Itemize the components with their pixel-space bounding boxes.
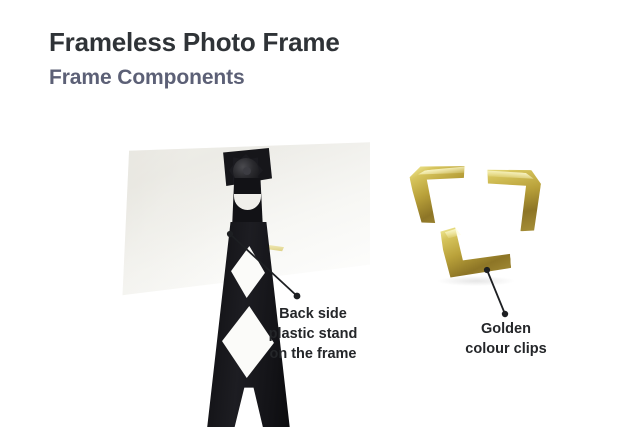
- callout-back-side-plastic-stand: Back side plastic stand on the frame: [261, 305, 365, 365]
- callout-golden-colour-clips: Golden colour clips: [452, 320, 560, 360]
- slide-canvas: Frameless Photo Frame Frame Components: [0, 0, 640, 427]
